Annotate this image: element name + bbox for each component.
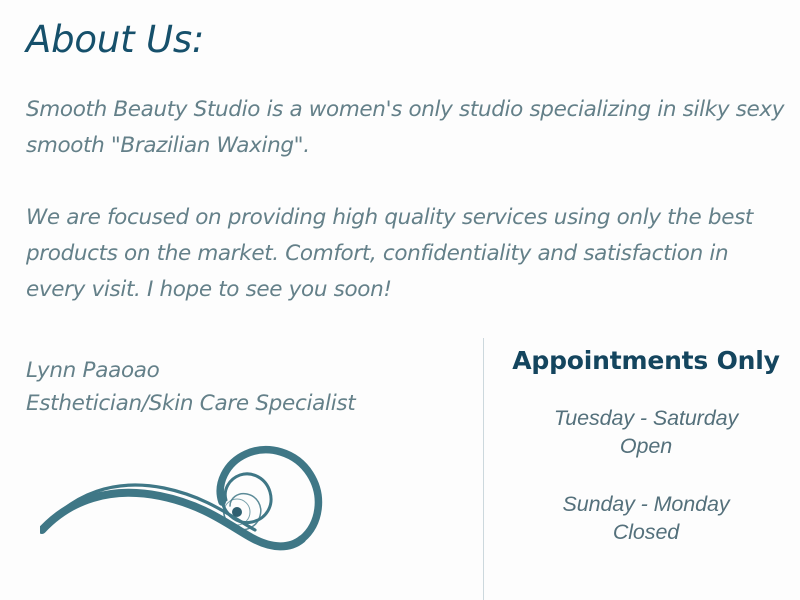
signature-role: Esthetician/Skin Care Specialist xyxy=(26,387,355,420)
page-title: About Us: xyxy=(26,18,204,61)
about-body: Smooth Beauty Studio is a women's only s… xyxy=(26,92,786,308)
column-divider xyxy=(483,338,484,600)
wave-spiral-ornament xyxy=(40,438,340,568)
signature-block: Lynn Paaoao Esthetician/Skin Care Specia… xyxy=(26,354,355,420)
schedule-row-open: Tuesday - Saturday Open xyxy=(492,404,800,460)
about-us-page: About Us: Smooth Beauty Studio is a wome… xyxy=(0,0,800,600)
about-paragraph-1: Smooth Beauty Studio is a women's only s… xyxy=(26,92,786,164)
wave-spiral-icon xyxy=(40,438,340,568)
appointments-heading: Appointments Only xyxy=(492,346,800,376)
schedule-status: Open xyxy=(492,432,800,460)
schedule-days: Tuesday - Saturday xyxy=(492,404,800,432)
schedule-days: Sunday - Monday xyxy=(492,490,800,518)
about-paragraph-2: We are focused on providing high quality… xyxy=(26,200,786,308)
schedule-row-closed: Sunday - Monday Closed xyxy=(492,490,800,546)
signature-name: Lynn Paaoao xyxy=(26,354,355,387)
appointments-section: Appointments Only Tuesday - Saturday Ope… xyxy=(492,340,800,546)
schedule-status: Closed xyxy=(492,518,800,546)
